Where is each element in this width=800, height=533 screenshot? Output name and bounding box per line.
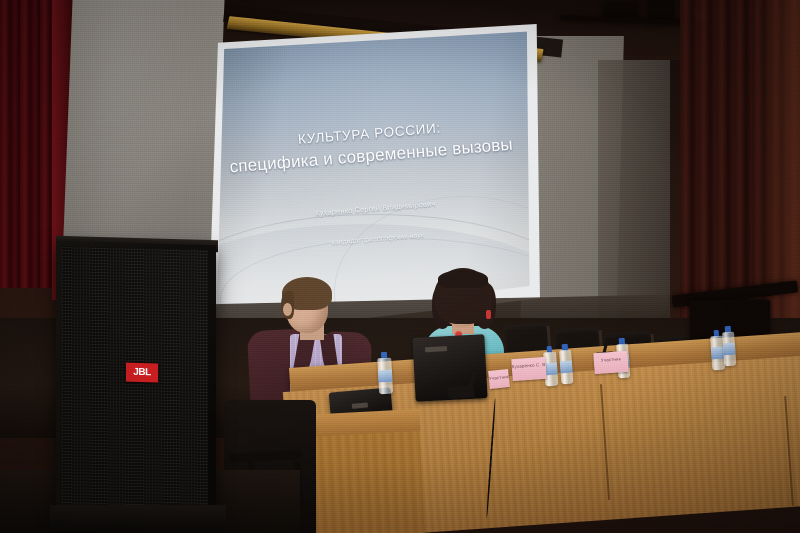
bottle-label <box>378 369 393 382</box>
name-card: Участник <box>488 369 510 389</box>
jbl-logo-badge: JBL <box>126 363 158 383</box>
jbl-logo-text: JBL <box>133 367 150 378</box>
bottle-label <box>723 342 736 355</box>
name-card-text: Участник <box>594 356 628 363</box>
speaker-grille <box>62 246 208 522</box>
conference-hall-photo: КУЛЬТУРА РОССИИ: специфика и современные… <box>0 0 800 533</box>
laptop-logo <box>425 346 447 352</box>
female-earring <box>486 310 491 319</box>
speaker-base-platform <box>50 505 226 533</box>
bottle-label <box>560 360 573 373</box>
name-card: Кухаренко С. В. <box>511 357 546 381</box>
water-bottle[interactable] <box>377 352 393 395</box>
name-card-text: Кухаренко С. В. <box>512 362 546 369</box>
name-card: Участник <box>593 351 628 374</box>
female-hair-fringe <box>438 270 488 288</box>
laptop-logo <box>352 402 368 408</box>
male-ear <box>283 303 292 316</box>
name-card-text: Участник <box>489 374 509 381</box>
